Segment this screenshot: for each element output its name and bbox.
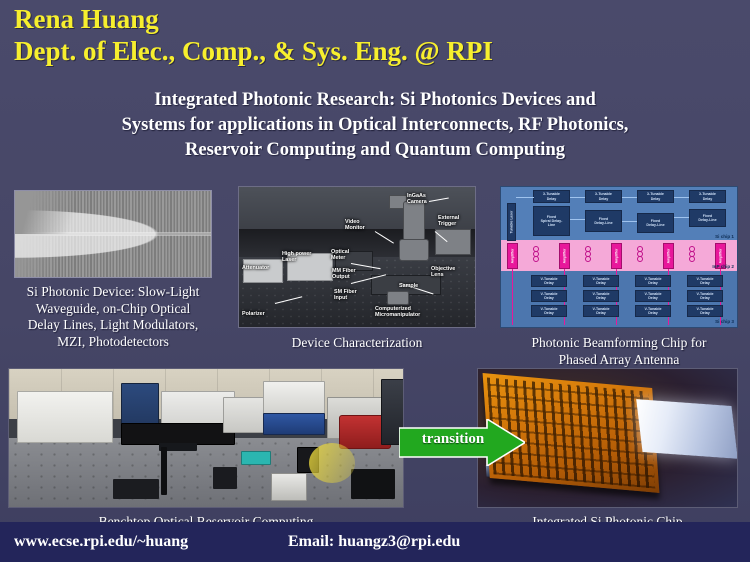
panel-caption-si-photonic-device: Si Photonic Device: Slow-Light Waveguide… — [14, 284, 212, 350]
instrument-signal-generator — [263, 381, 325, 415]
block-v-tunable-delay: V-Tunable Delay — [635, 305, 671, 317]
panel-caption-beamforming-chip: Photonic Beamforming Chip for Phased Arr… — [500, 335, 738, 368]
block-label: Fixed Delay-Line — [698, 214, 716, 222]
subtitle-line-2: Systems for applications in Optical Inte… — [12, 113, 738, 138]
panel-si-photonic-device: Si Photonic Device: Slow-Light Waveguide… — [14, 190, 212, 350]
beamforming-block-diagram: Tunable Laser λ-Tunable Delay λ-Tunable … — [500, 186, 738, 328]
photo-label: InGaAs Camera — [407, 193, 427, 205]
block-lambda-tunable-delay: λ-Tunable Delay — [585, 190, 622, 203]
block-amplifier: Amplifier — [663, 243, 674, 269]
caption-line-1: Photonic Beamforming Chip for — [500, 335, 738, 352]
diagram-wire — [570, 197, 585, 198]
block-amplifier: Amplifier — [559, 243, 570, 269]
panel-beamforming-chip: Tunable Laser λ-Tunable Delay λ-Tunable … — [500, 186, 738, 368]
block-v-tunable-delay: V-Tunable Delay — [687, 290, 723, 302]
block-v-tunable-delay: V-Tunable Delay — [531, 305, 567, 317]
caption-line-1: Si Photonic Device: Slow-Light — [14, 284, 212, 301]
header: Rena Huang Dept. of Elec., Comp., & Sys.… — [14, 4, 736, 67]
block-label: λ-Tunable Delay — [543, 192, 560, 200]
optics-breadboard-module — [113, 479, 159, 499]
ring-resonator-stack — [533, 246, 539, 261]
photo-label: Attenuator — [242, 265, 269, 271]
optics-post-mount — [161, 447, 167, 495]
poster-slide: Rena Huang Dept. of Elec., Comp., & Sys.… — [0, 0, 750, 562]
diagram-wire — [622, 197, 637, 198]
optics-teal-module — [241, 451, 271, 465]
panel-device-characterization: Attenuator High power Laser Video Monito… — [238, 186, 476, 352]
block-label: V-Tunable Delay — [645, 277, 662, 285]
block-label: V-Tunable Delay — [541, 277, 558, 285]
chip-region-label-si-3: Si chip 3 — [715, 319, 734, 324]
block-v-tunable-delay: V-Tunable Delay — [531, 275, 567, 287]
diagram-wire — [674, 217, 689, 218]
device-characterization-photo: Attenuator High power Laser Video Monito… — [238, 186, 476, 328]
block-v-tunable-delay: V-Tunable Delay — [583, 305, 619, 317]
photo-label: Objective Lens — [431, 266, 455, 278]
instrument-rack-unit — [17, 391, 113, 443]
instrument-micromanipulator — [387, 291, 409, 305]
poster-subtitle: Integrated Photonic Research: Si Photoni… — [12, 88, 738, 163]
ring-resonator-stack — [585, 246, 591, 261]
transition-arrow: transition — [399, 419, 525, 466]
footer-email[interactable]: Email: huangz3@rpi.edu — [288, 533, 460, 551]
block-v-tunable-delay: V-Tunable Delay — [687, 305, 723, 317]
block-v-tunable-delay: V-Tunable Delay — [583, 290, 619, 302]
photo-label: High power Laser — [282, 251, 311, 263]
instrument-external-trigger — [435, 229, 471, 255]
photo-label: Video Monitor — [345, 219, 365, 231]
diagram-wire — [512, 269, 513, 325]
diagram-wire — [622, 221, 637, 222]
block-v-tunable-delay: V-Tunable Delay — [635, 290, 671, 302]
benchtop-reservoir-photo — [8, 368, 404, 508]
block-label: λ-Tunable Delay — [647, 192, 664, 200]
chip-region-label-inp-2: InP chip 2 — [712, 264, 734, 269]
block-label-tunable-laser: Tunable Laser — [510, 211, 514, 234]
block-label: Amplifier — [563, 249, 567, 264]
ring-resonator-stack — [637, 246, 643, 261]
block-label: Amplifier — [615, 249, 619, 264]
block-label: λ-Tunable Delay — [699, 192, 716, 200]
block-fixed-spiral-delay-line: Fixed Spiral Delay- Line — [533, 206, 570, 236]
instrument-keyboard — [351, 469, 395, 499]
block-label: V-Tunable Delay — [697, 277, 714, 285]
ring-resonator — [585, 256, 591, 262]
block-amplifier: Amplifier — [507, 243, 518, 269]
footer-website[interactable]: www.ecse.rpi.edu/~huang — [14, 533, 188, 551]
block-fixed-delay-line: Fixed Delay-Line — [689, 209, 726, 227]
optics-detector-box — [213, 467, 237, 489]
photo-label: SM Fiber Input — [334, 289, 357, 301]
photo-label: Polarizer — [242, 311, 265, 317]
block-lambda-tunable-delay: λ-Tunable Delay — [637, 190, 674, 203]
fiber-array-block — [636, 399, 738, 459]
caption-line-3: Delay Lines, Light Modulators, — [14, 317, 212, 334]
block-label: Fixed Spiral Delay- Line — [541, 215, 563, 228]
block-label: Amplifier — [667, 249, 671, 264]
block-v-tunable-delay: V-Tunable Delay — [583, 275, 619, 287]
photo-label: Optical Meter — [331, 249, 349, 261]
block-label: V-Tunable Delay — [697, 292, 714, 300]
optics-white-panel — [271, 473, 307, 501]
panel-reservoir-computing: Benchtop Optical Reservoir Computing — [8, 368, 404, 531]
photo-label: Sample — [399, 283, 418, 289]
block-label: Amplifier — [511, 249, 515, 264]
transition-arrow-label: transition — [415, 431, 491, 448]
instrument-patch-panel — [121, 423, 235, 445]
photo-label: External Trigger — [438, 215, 459, 227]
block-label: V-Tunable Delay — [645, 307, 662, 315]
ring-resonator-stack — [689, 246, 695, 261]
block-v-tunable-delay: V-Tunable Delay — [635, 275, 671, 287]
diagram-wire — [516, 197, 534, 198]
block-label: V-Tunable Delay — [593, 292, 610, 300]
block-label: V-Tunable Delay — [593, 307, 610, 315]
block-label: V-Tunable Delay — [645, 292, 662, 300]
block-v-tunable-delay: V-Tunable Delay — [687, 275, 723, 287]
diagram-wire — [570, 219, 585, 220]
ring-resonator — [689, 256, 695, 262]
subtitle-line-1: Integrated Photonic Research: Si Photoni… — [12, 88, 738, 113]
ring-resonator — [637, 256, 643, 262]
instrument-blue-analyzer — [263, 413, 325, 435]
footer-band: www.ecse.rpi.edu/~huang Email: huangz3@r… — [0, 522, 750, 562]
block-label: V-Tunable Delay — [541, 292, 558, 300]
block-label: Fixed Delay-Line — [594, 217, 612, 225]
photo-label: Computerized Micromanipulator — [375, 306, 420, 318]
block-label: V-Tunable Delay — [593, 277, 610, 285]
block-fixed-delay-line: Fixed Delay-Line — [637, 213, 674, 233]
block-lambda-tunable-delay: λ-Tunable Delay — [689, 190, 726, 203]
block-tunable-laser: Tunable Laser — [507, 203, 516, 241]
sem-waveguide-image — [14, 190, 212, 278]
block-label: Fixed Delay-Line — [646, 219, 664, 227]
block-v-tunable-delay: V-Tunable Delay — [531, 290, 567, 302]
block-label: V-Tunable Delay — [697, 307, 714, 315]
photo-label: MM Fiber Output — [332, 268, 356, 280]
caption-line-2: Phased Array Antenna — [500, 352, 738, 369]
diagram-wire — [674, 197, 689, 198]
instrument-objective-lens — [399, 239, 429, 261]
waveguide-taper-overlay — [15, 191, 211, 277]
presenter-name: Rena Huang — [14, 4, 736, 35]
instrument-ingaas-camera — [403, 201, 425, 241]
subtitle-line-3: Reservoir Computing and Quantum Computin… — [12, 138, 738, 163]
block-label: λ-Tunable Delay — [595, 192, 612, 200]
block-label: Amplifier — [719, 249, 723, 264]
panel-caption-device-characterization: Device Characterization — [238, 335, 476, 352]
block-amplifier: Amplifier — [611, 243, 622, 269]
fiber-spool-yellow — [309, 443, 355, 483]
block-fixed-delay-line: Fixed Delay-Line — [585, 210, 622, 232]
caption-line-4: MZI, Photodetectors — [14, 334, 212, 351]
block-lambda-tunable-delay: λ-Tunable Delay — [533, 190, 570, 203]
chip-region-label-si-1: Si chip 1 — [715, 234, 734, 239]
ring-resonator — [533, 256, 539, 262]
block-label: V-Tunable Delay — [541, 307, 558, 315]
presenter-department: Dept. of Elec., Comp., & Sys. Eng. @ RPI — [14, 35, 736, 67]
caption-line-2: Waveguide, on-Chip Optical — [14, 301, 212, 318]
